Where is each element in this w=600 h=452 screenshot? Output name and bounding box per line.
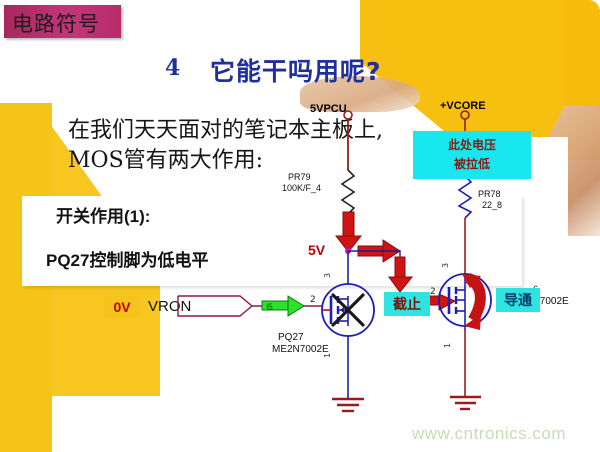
- current-arrow-down-pr79: [336, 212, 361, 252]
- slide-canvas: 电路符号 4 它能干吗用呢? 在我们天天面对的笔记本主板上, MOS管有两大作用…: [0, 0, 600, 452]
- pin-label-right-gate: 2: [430, 287, 436, 297]
- callout-voltage-pulled-low: 此处电压 被拉低: [413, 131, 531, 179]
- pin-label-right-drain: 3: [441, 263, 450, 268]
- node-label-5v: 5V: [308, 242, 325, 258]
- callout-line-1: 此处电压: [413, 136, 531, 155]
- transistor-ref-pq27: PQ27: [278, 332, 304, 343]
- resistor-ref-pr79: PR79: [288, 172, 311, 183]
- state-badge-cutoff: 截止: [384, 292, 430, 316]
- watermark: www.cntronics.com: [412, 424, 566, 444]
- current-arrow-down-mid: [389, 257, 412, 292]
- pin-label-pq27-drain: 3: [323, 273, 332, 278]
- svg-text:低: 低: [266, 302, 273, 311]
- signal-arrow-vron: 低: [262, 296, 304, 316]
- rail-label-5vpcu: 5VPCU: [310, 103, 347, 115]
- resistor-ref-pr78: PR78: [478, 189, 501, 200]
- net-flag-vron: [178, 296, 252, 316]
- rail-label-vcore: +VCORE: [440, 100, 486, 112]
- schematic-diagram: 低: [0, 0, 600, 452]
- callout-line-2: 被拉低: [413, 155, 531, 174]
- ground-symbol-left: [332, 399, 364, 411]
- resistor-pr79-symbol: [342, 170, 354, 214]
- resistor-pr78-symbol: [459, 176, 471, 218]
- ground-symbol-right: [450, 397, 481, 409]
- node-vcore: [461, 111, 469, 119]
- state-badge-conducting: 导通: [496, 288, 540, 312]
- resistor-value-pr78: 22_8: [482, 200, 502, 211]
- pin-label-pq27-gate: 2: [310, 295, 316, 305]
- pin-label-right-source: 1: [443, 343, 452, 348]
- transistor-part-pq27: ME2N7002E: [272, 344, 329, 355]
- mosfet-pq27-body-diode: [340, 307, 344, 313]
- resistor-value-pr79: 100K/F_4: [282, 183, 321, 194]
